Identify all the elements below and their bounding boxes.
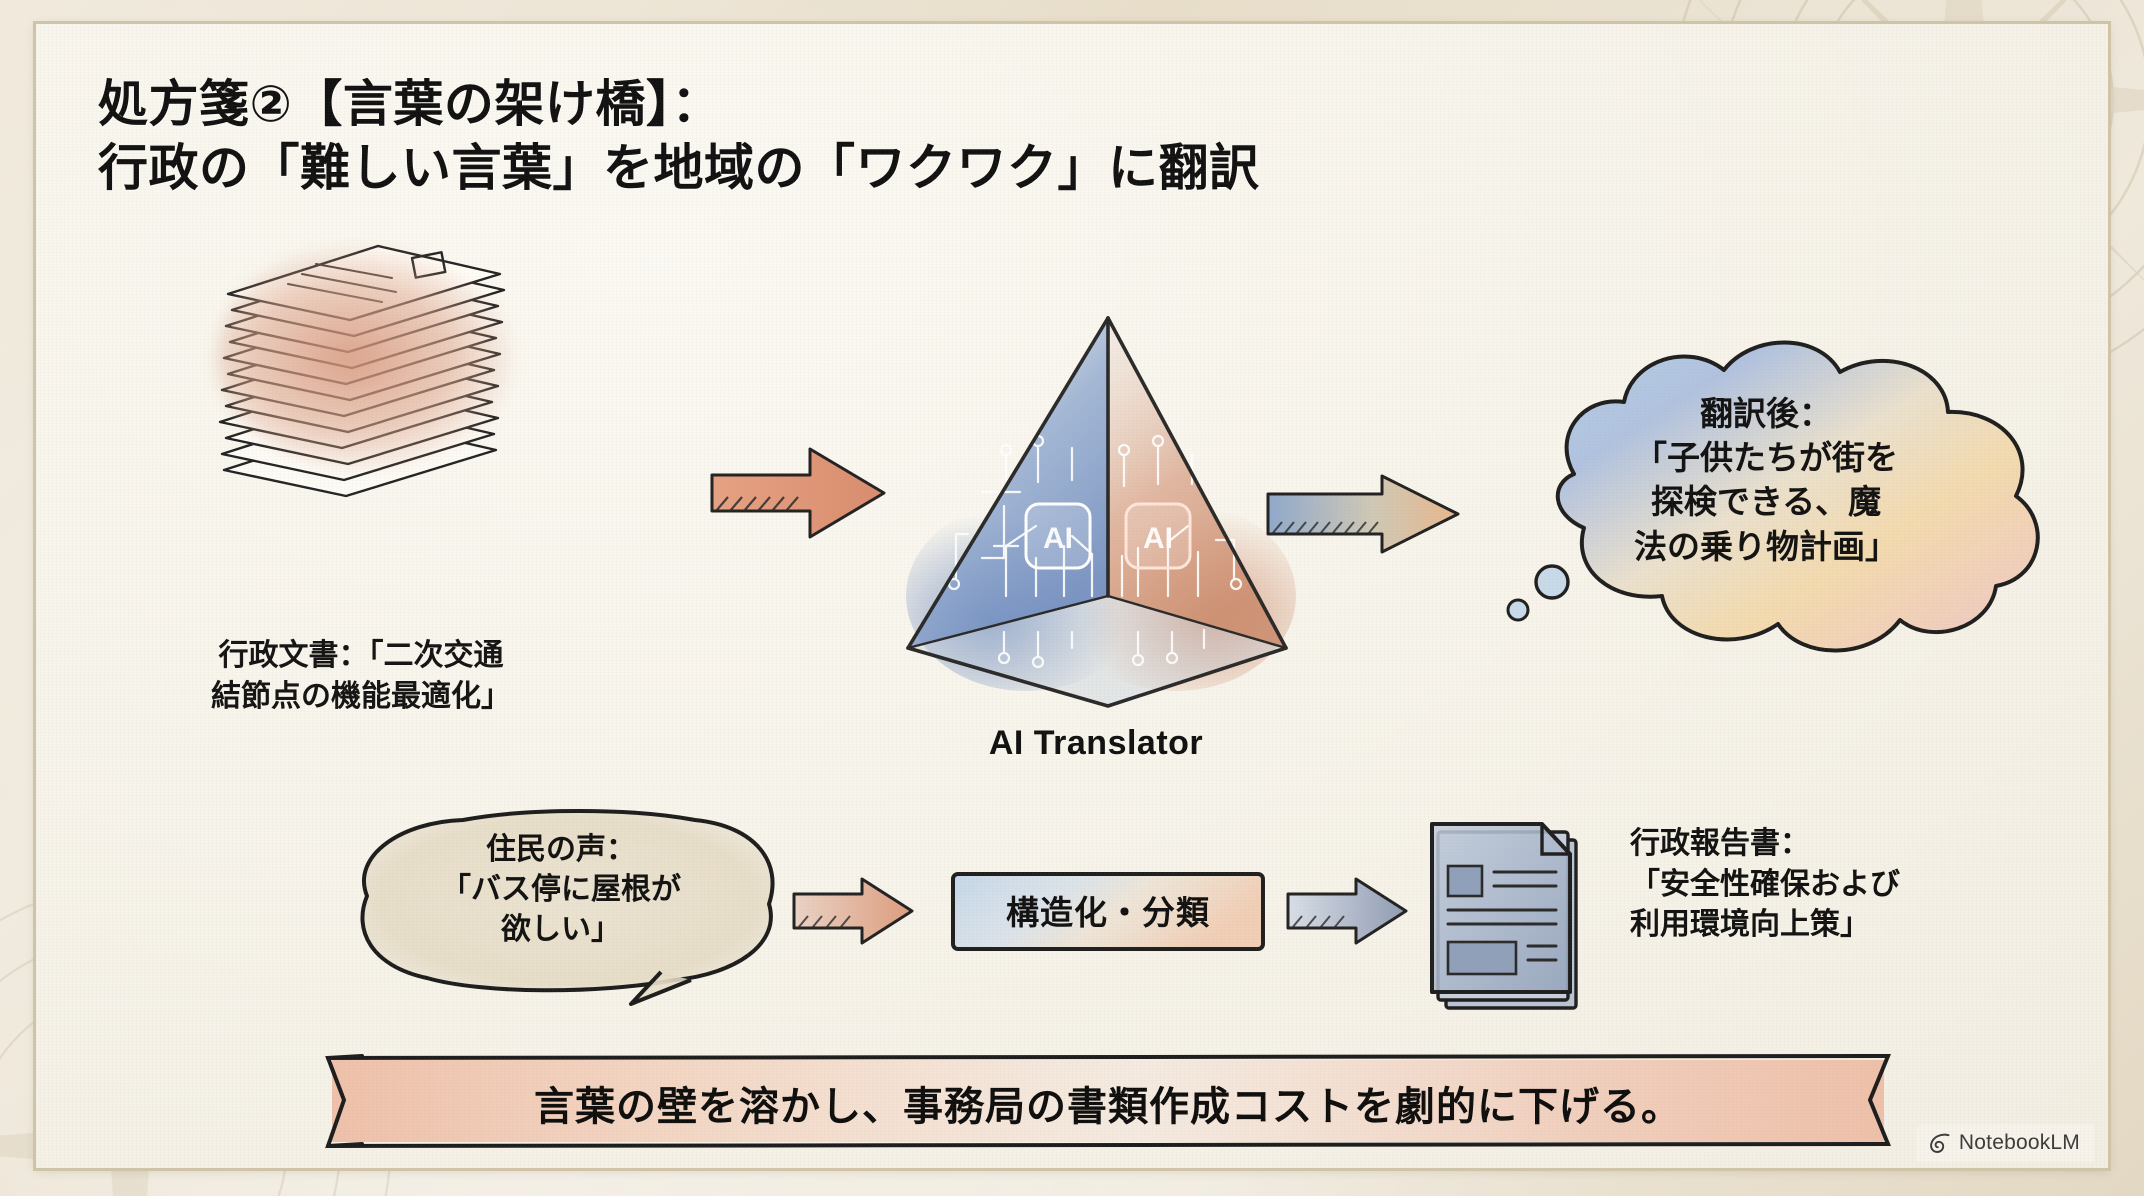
notebooklm-spiral-icon: [1928, 1131, 1952, 1155]
title-line-2: 行政の「難しい言葉」を地域の「ワクワク」に翻訳: [98, 136, 1598, 200]
report-line-1: 行政報告書：: [1630, 824, 2050, 865]
ai-translator-pyramid-illustration: AI AI: [886, 296, 1306, 716]
document-caption-line-2: 結節点の機能最適化」: [146, 677, 576, 718]
ai-chip-right-label: AI: [1143, 522, 1173, 555]
result-line-1: 翻訳後：: [1556, 392, 1976, 436]
administrative-report-caption: 行政報告書： 「安全性確保および 利用環境向上策」: [1630, 824, 2050, 946]
administrative-report-illustration: [1424, 814, 1614, 1024]
report-line-2: 「安全性確保および: [1630, 865, 2050, 906]
ai-chip-left: AI: [1026, 504, 1090, 568]
result-line-3: 探検できる、魔: [1556, 480, 1976, 524]
voice-line-3: 欲しい」: [336, 910, 786, 950]
voice-line-2: 「バス停に屋根が: [336, 870, 786, 910]
administrative-document-stack-illustration: [196, 214, 526, 514]
resident-voice-text: 住民の声： 「バス停に屋根が 欲しい」: [336, 830, 786, 950]
ai-translator-label: AI Translator: [866, 724, 1326, 763]
result-line-2: 「子供たちが街を: [1556, 436, 1976, 480]
ai-chip-left-label: AI: [1043, 522, 1073, 555]
notebooklm-watermark-label: NotebookLM: [1959, 1131, 2080, 1155]
notebooklm-watermark: NotebookLM: [1916, 1124, 2094, 1162]
arrow-voice-to-process: [790, 876, 916, 946]
ai-chip-right: AI: [1126, 504, 1190, 568]
arrow-process-to-report: [1284, 876, 1410, 946]
document-stack-caption: 行政文書：「二次交通 結節点の機能最適化」: [146, 636, 576, 717]
title-line-1: 処方箋②【言葉の架け橋】：: [98, 72, 1598, 136]
result-line-4: 法の乗り物計画」: [1556, 525, 1976, 569]
summary-banner-text: 言葉の壁を溶かし、事務局の書類作成コストを劇的に下げる。: [318, 1074, 1898, 1132]
arrow-translator-to-result: [1264, 474, 1464, 554]
document-caption-line-1: 行政文書：「二次交通: [146, 636, 576, 677]
slide-canvas: AS N 処方箋②【言葉の架け橋】： 行政の「難しい言葉」を地域の「ワクワク」に…: [0, 0, 2144, 1196]
translated-result-text: 翻訳後： 「子供たちが街を 探検できる、魔 法の乗り物計画」: [1556, 392, 1976, 569]
report-line-3: 利用環境向上策」: [1630, 905, 2050, 946]
voice-line-1: 住民の声：: [336, 830, 786, 870]
arrow-documents-to-translator: [706, 439, 896, 554]
structuring-classification-label: 構造化・分類: [948, 886, 1268, 934]
page-title: 処方箋②【言葉の架け橋】： 行政の「難しい言葉」を地域の「ワクワク」に翻訳: [98, 72, 1598, 200]
slide-paper-panel: 処方箋②【言葉の架け橋】： 行政の「難しい言葉」を地域の「ワクワク」に翻訳: [36, 24, 2108, 1168]
